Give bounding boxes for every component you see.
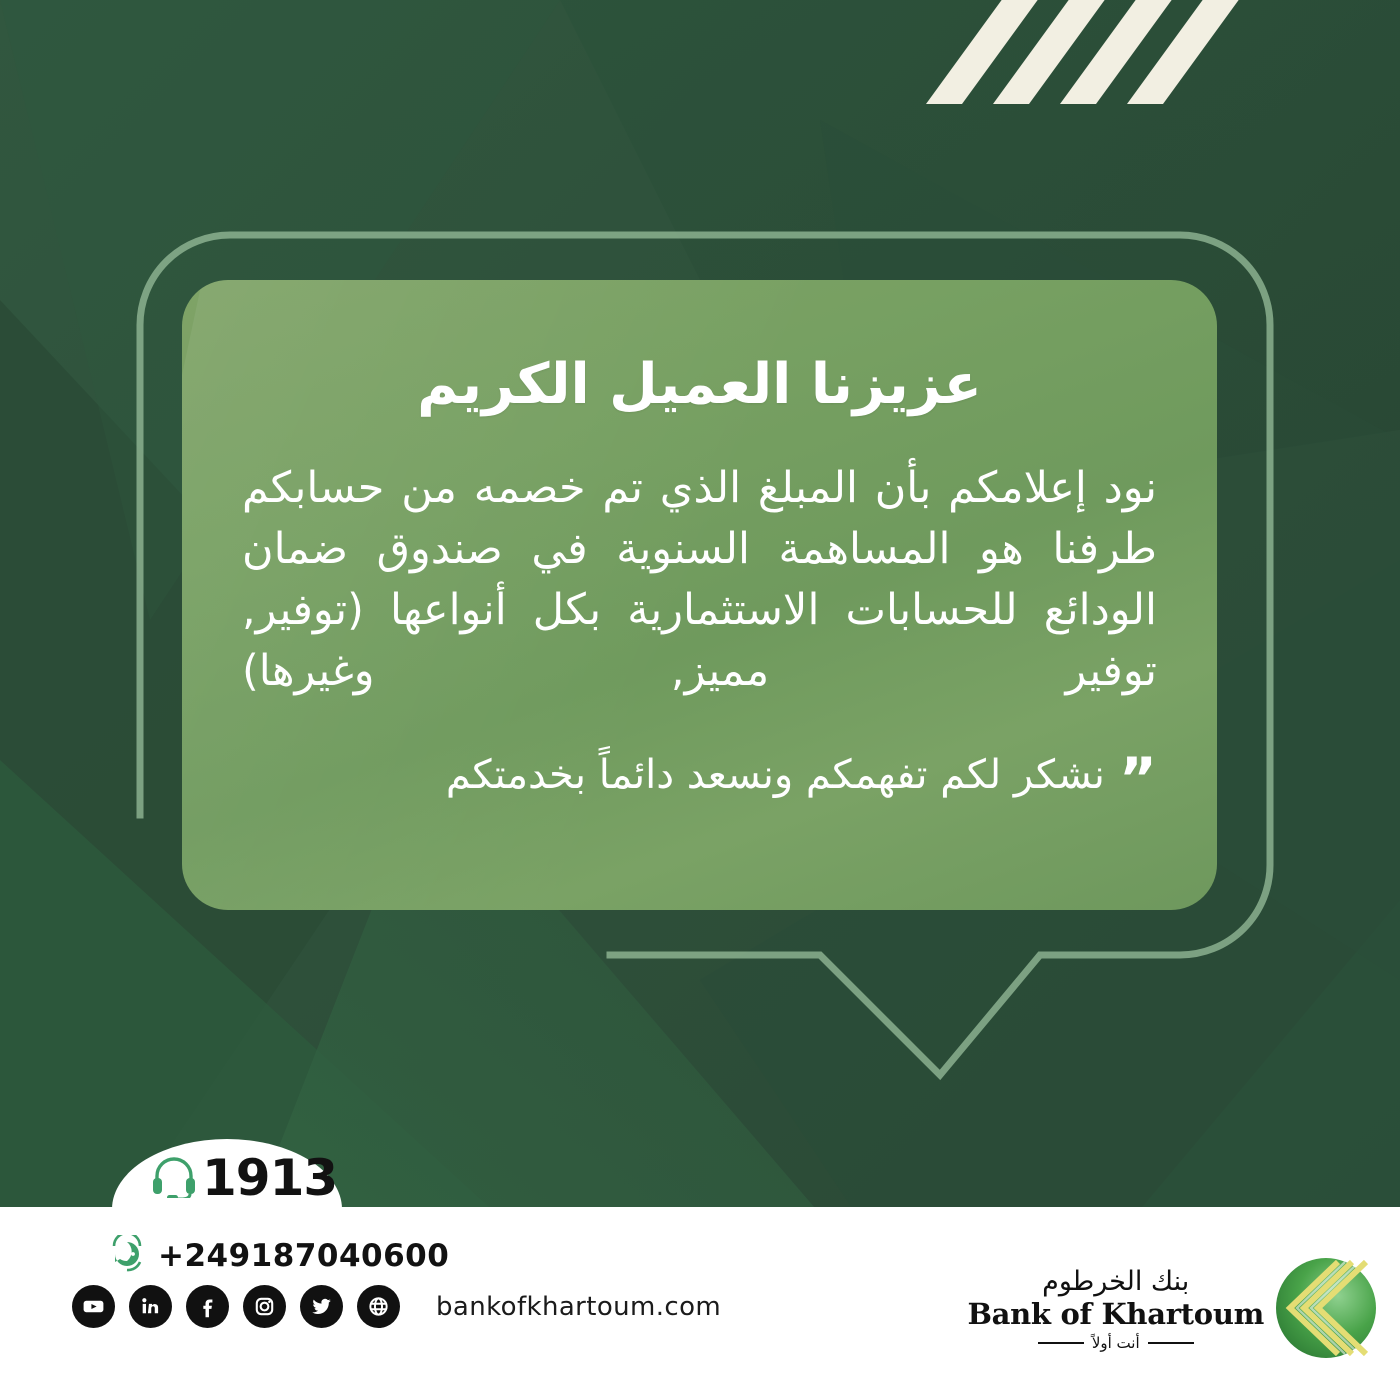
message-card: عزيزنا العميل الكريم نود إعلامكم بأن الم…	[182, 280, 1217, 910]
facebook-icon[interactable]	[186, 1285, 229, 1328]
twitter-icon[interactable]	[300, 1285, 343, 1328]
footer-bar: 1913 +249187040600	[0, 1207, 1400, 1400]
phone-number: +249187040600	[158, 1238, 449, 1274]
bank-logo-english: Bank of Khartoum	[967, 1299, 1264, 1329]
message-body: نود إعلامكم بأن المبلغ الذي تم خصمه من ح…	[242, 458, 1157, 702]
poster-canvas: عزيزنا العميل الكريم نود إعلامكم بأن الم…	[0, 0, 1400, 1400]
tagline-rule-left	[1148, 1342, 1194, 1344]
bank-logo-text: بنك الخرطوم Bank of Khartoum أنت أولاً	[967, 1268, 1264, 1351]
whatsapp-chat-icon	[108, 1235, 146, 1277]
bank-logo-arabic: بنك الخرطوم	[967, 1268, 1264, 1295]
closing-message: نشكر لكم تفهمكم ونسعد دائماً بخدمتكم	[242, 748, 1105, 802]
bank-logo-tagline-row: أنت أولاً	[967, 1334, 1264, 1352]
phone-block[interactable]: +249187040600	[108, 1235, 449, 1277]
website-url[interactable]: bankofkhartoum.com	[436, 1292, 721, 1322]
globe-icon[interactable]	[357, 1285, 400, 1328]
social-links-row: bankofkhartoum.com	[72, 1285, 721, 1328]
page-title: عزيزنا العميل الكريم	[228, 354, 1171, 416]
linkedin-icon[interactable]	[129, 1285, 172, 1328]
hotline-block[interactable]: 1913	[150, 1149, 337, 1207]
headset-icon	[150, 1154, 198, 1202]
message-card-content: عزيزنا العميل الكريم نود إعلامكم بأن الم…	[182, 280, 1217, 910]
bank-logo: بنك الخرطوم Bank of Khartoum أنت أولاً	[967, 1256, 1378, 1364]
quote-icon: ”	[1119, 752, 1157, 807]
closing-row: ” نشكر لكم تفهمكم ونسعد دائماً بخدمتكم	[242, 748, 1157, 807]
instagram-icon[interactable]	[243, 1285, 286, 1328]
tagline-rule-right	[1038, 1342, 1084, 1344]
diagonal-stripes-decor	[910, 0, 1250, 104]
youtube-icon[interactable]	[72, 1285, 115, 1328]
hotline-number: 1913	[202, 1149, 337, 1207]
bank-logo-tagline: أنت أولاً	[1092, 1334, 1140, 1352]
bank-of-khartoum-mark-icon	[1274, 1256, 1378, 1364]
